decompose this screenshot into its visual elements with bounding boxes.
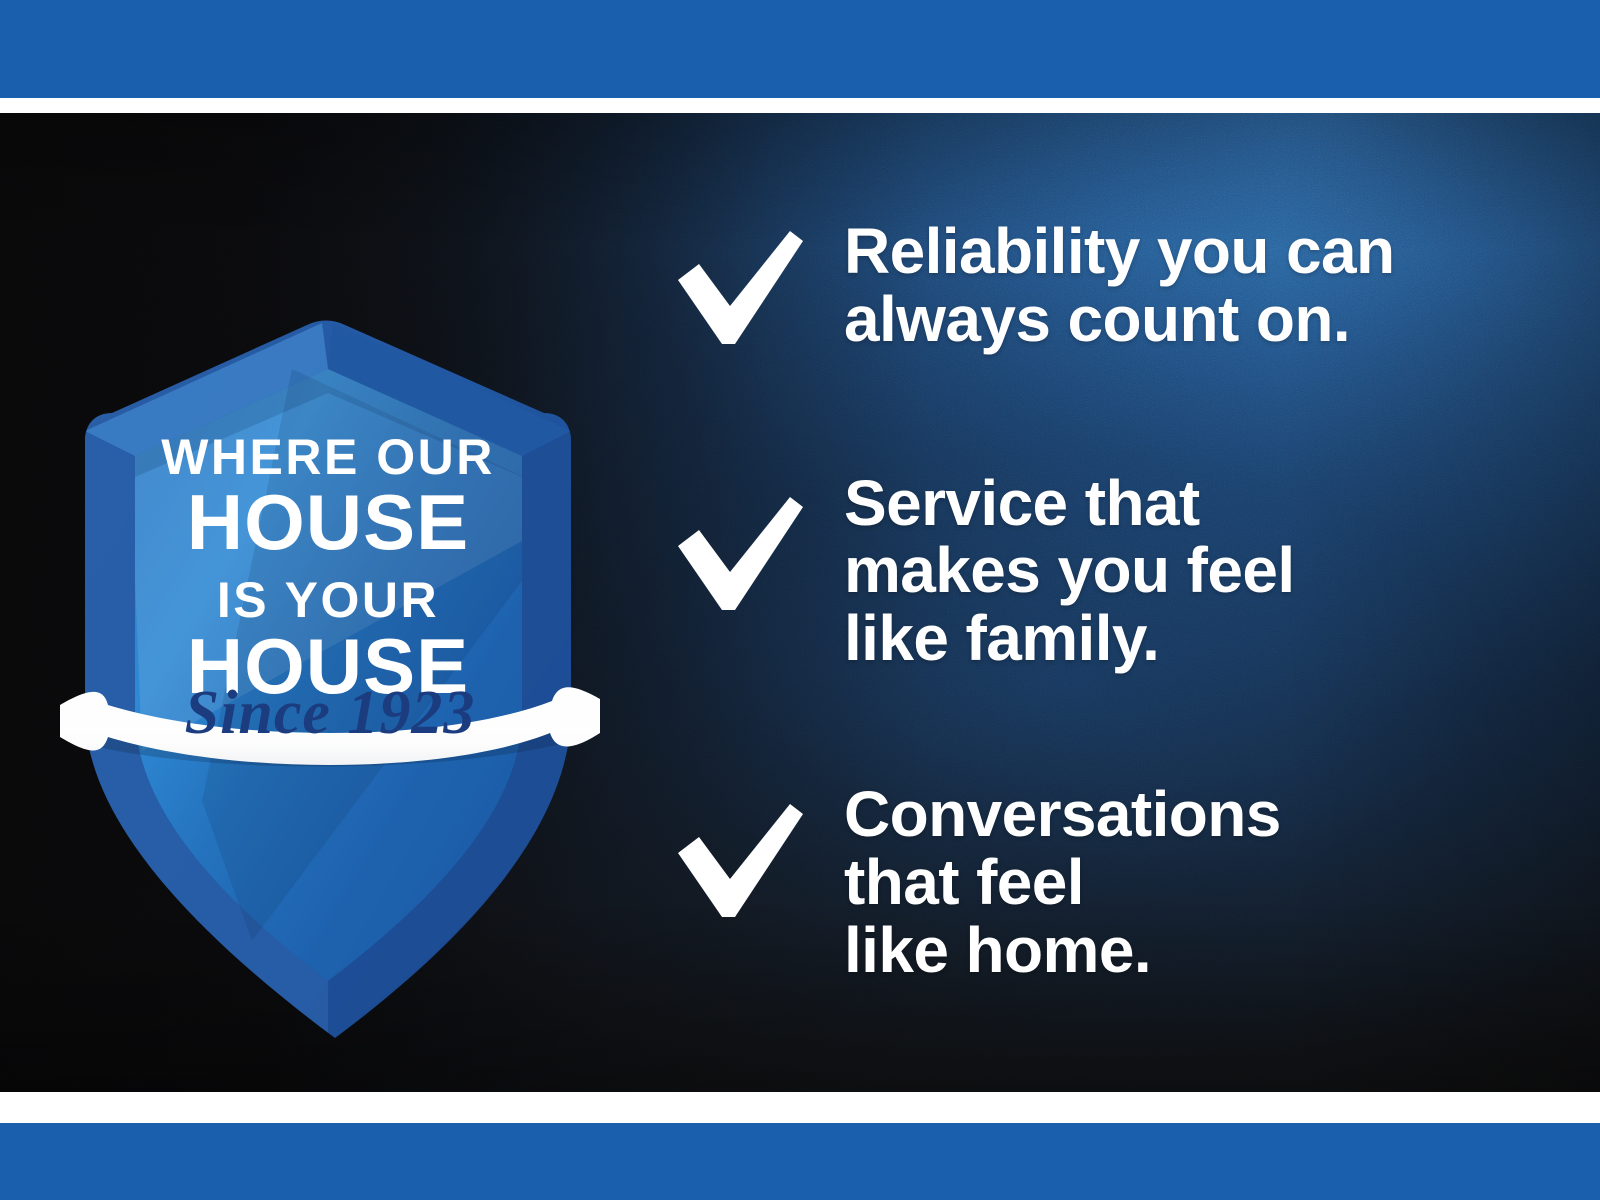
check-icon [672,494,804,614]
shield-logo: WHERE OUR HOUSE IS YOUR HOUSE Since 1923 [52,281,622,941]
bottom-white-divider [0,1092,1600,1123]
list-item-text: Reliability you can always count on. [844,218,1532,354]
list-item: Reliability you can always count on. [672,218,1532,354]
top-brand-bar [0,0,1600,98]
top-white-divider [0,98,1600,113]
ribbon-text: Since 1923 [185,679,476,747]
list-item: Conversations that feel like home. [672,781,1532,984]
shield-line-1: WHERE OUR [161,429,495,485]
list-item: Service that makes you feel like family. [672,470,1532,673]
check-icon [672,801,804,921]
content-stage: WHERE OUR HOUSE IS YOUR HOUSE Since 1923 [0,113,1600,1092]
shield-line-3: IS YOUR [217,572,439,628]
list-item-text: Conversations that feel like home. [844,781,1532,984]
benefits-list: Reliability you can always count on. Ser… [672,218,1532,985]
bottom-brand-bar [0,1123,1600,1200]
shield-line-2: HOUSE [187,478,469,566]
check-icon [672,228,804,348]
promo-banner: WHERE OUR HOUSE IS YOUR HOUSE Since 1923 [0,0,1600,1200]
list-item-text: Service that makes you feel like family. [844,470,1532,673]
